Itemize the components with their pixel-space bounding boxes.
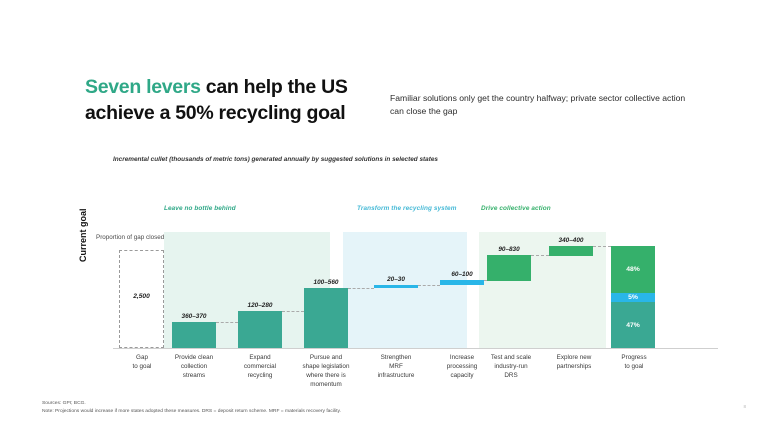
bar-increase-processing-capacity: 60–100 (440, 280, 484, 285)
subheadline: Familiar solutions only get the country … (390, 92, 690, 117)
x-label-strengthen-mrf-infrastructure: StrengthenMRFinfrastructure (362, 354, 430, 381)
footnote-note: Note: Projections would increase if more… (42, 408, 341, 416)
x-label-expand-commercial-recycling: Expandcommercialrecycling (230, 354, 290, 381)
bar-value-strengthen-mrf-infrastructure: 20–30 (387, 276, 405, 283)
group-title-text: Transform the recycling system (357, 205, 457, 214)
bar-gap-to-goal: 2,500 (119, 250, 164, 348)
x-label-progress-to-goal: Progressto goal (605, 354, 663, 372)
page-title-accent: Seven levers (85, 76, 201, 98)
stack-label-5: 5% (628, 294, 638, 301)
bar-value-expand-commercial-recycling: 120–280 (248, 302, 273, 309)
chart-note: Incremental cullet (thousands of metric … (113, 155, 443, 164)
x-label-provide-clean-collection: Provide cleancollectionstreams (164, 354, 224, 381)
connector-3 (348, 288, 374, 289)
slide: Seven levers can help the US achieve a 5… (0, 0, 768, 432)
bar-value-increase-processing-capacity: 60–100 (451, 271, 472, 278)
y-axis-label: Current goal (78, 208, 88, 262)
connector-1 (216, 322, 238, 323)
page-title: Seven levers can help the US achieve a 5… (85, 75, 395, 126)
connector-6 (531, 255, 549, 256)
connector-7 (593, 246, 611, 247)
bar-test-scale-industry-run-drs: 90–830 (487, 255, 531, 281)
x-label-test-scale-industry-run-drs: Test and scaleindustry-runDRS (477, 354, 545, 381)
footnote: Sources: GPI; BCG. Note: Projections wou… (42, 400, 341, 415)
connector-4 (418, 285, 440, 286)
footnote-sources: Sources: GPI; BCG. (42, 400, 341, 408)
bar-progress-to-goal: 48% 5% 47% (611, 246, 655, 348)
x-label-gap-to-goal: Gapto goal (115, 354, 169, 372)
bar-value-pursue-shape-legislation: 100–560 (314, 279, 339, 286)
x-label-pursue-shape-legislation: Pursue andshape legislationwhere there i… (292, 354, 360, 390)
group-title-text: Leave no bottle behind (164, 205, 236, 214)
group-title-leave-no-bottle-behind: Leave no bottle behind (164, 205, 236, 214)
stack-segment-47: 47% (611, 302, 655, 348)
bar-value-explore-new-partnerships: 340–400 (559, 237, 584, 244)
stack-label-48: 48% (626, 266, 640, 273)
x-label-explore-new-partnerships: Explore newpartnerships (543, 354, 605, 372)
group-title-text: Drive collective action (481, 205, 551, 214)
stack-label-47: 47% (626, 322, 640, 329)
connector-2 (282, 311, 304, 312)
bar-explore-new-partnerships: 340–400 (549, 246, 593, 256)
group-title-transform-recycling-system: Transform the recycling system (357, 205, 457, 214)
bar-provide-clean-collection-streams: 360–370 (172, 322, 216, 348)
group-panel-transform-recycling-system (343, 232, 467, 348)
group-title-drive-collective-action: Drive collective action (481, 205, 551, 214)
bar-expand-commercial-recycling: 120–280 (238, 311, 282, 348)
bar-pursue-shape-legislation: 100–560 (304, 288, 348, 348)
x-axis-baseline (113, 348, 718, 349)
bar-value-test-scale-industry-run-drs: 90–830 (498, 246, 519, 253)
bar-value-gap-to-goal: 2,500 (120, 293, 163, 300)
bar-value-provide-clean-collection-streams: 360–370 (182, 313, 207, 320)
page-number: 8 (743, 404, 746, 409)
stack-segment-5: 5% (611, 293, 655, 302)
stack-segment-48: 48% (611, 246, 655, 293)
bar-strengthen-mrf-infrastructure: 20–30 (374, 285, 418, 288)
